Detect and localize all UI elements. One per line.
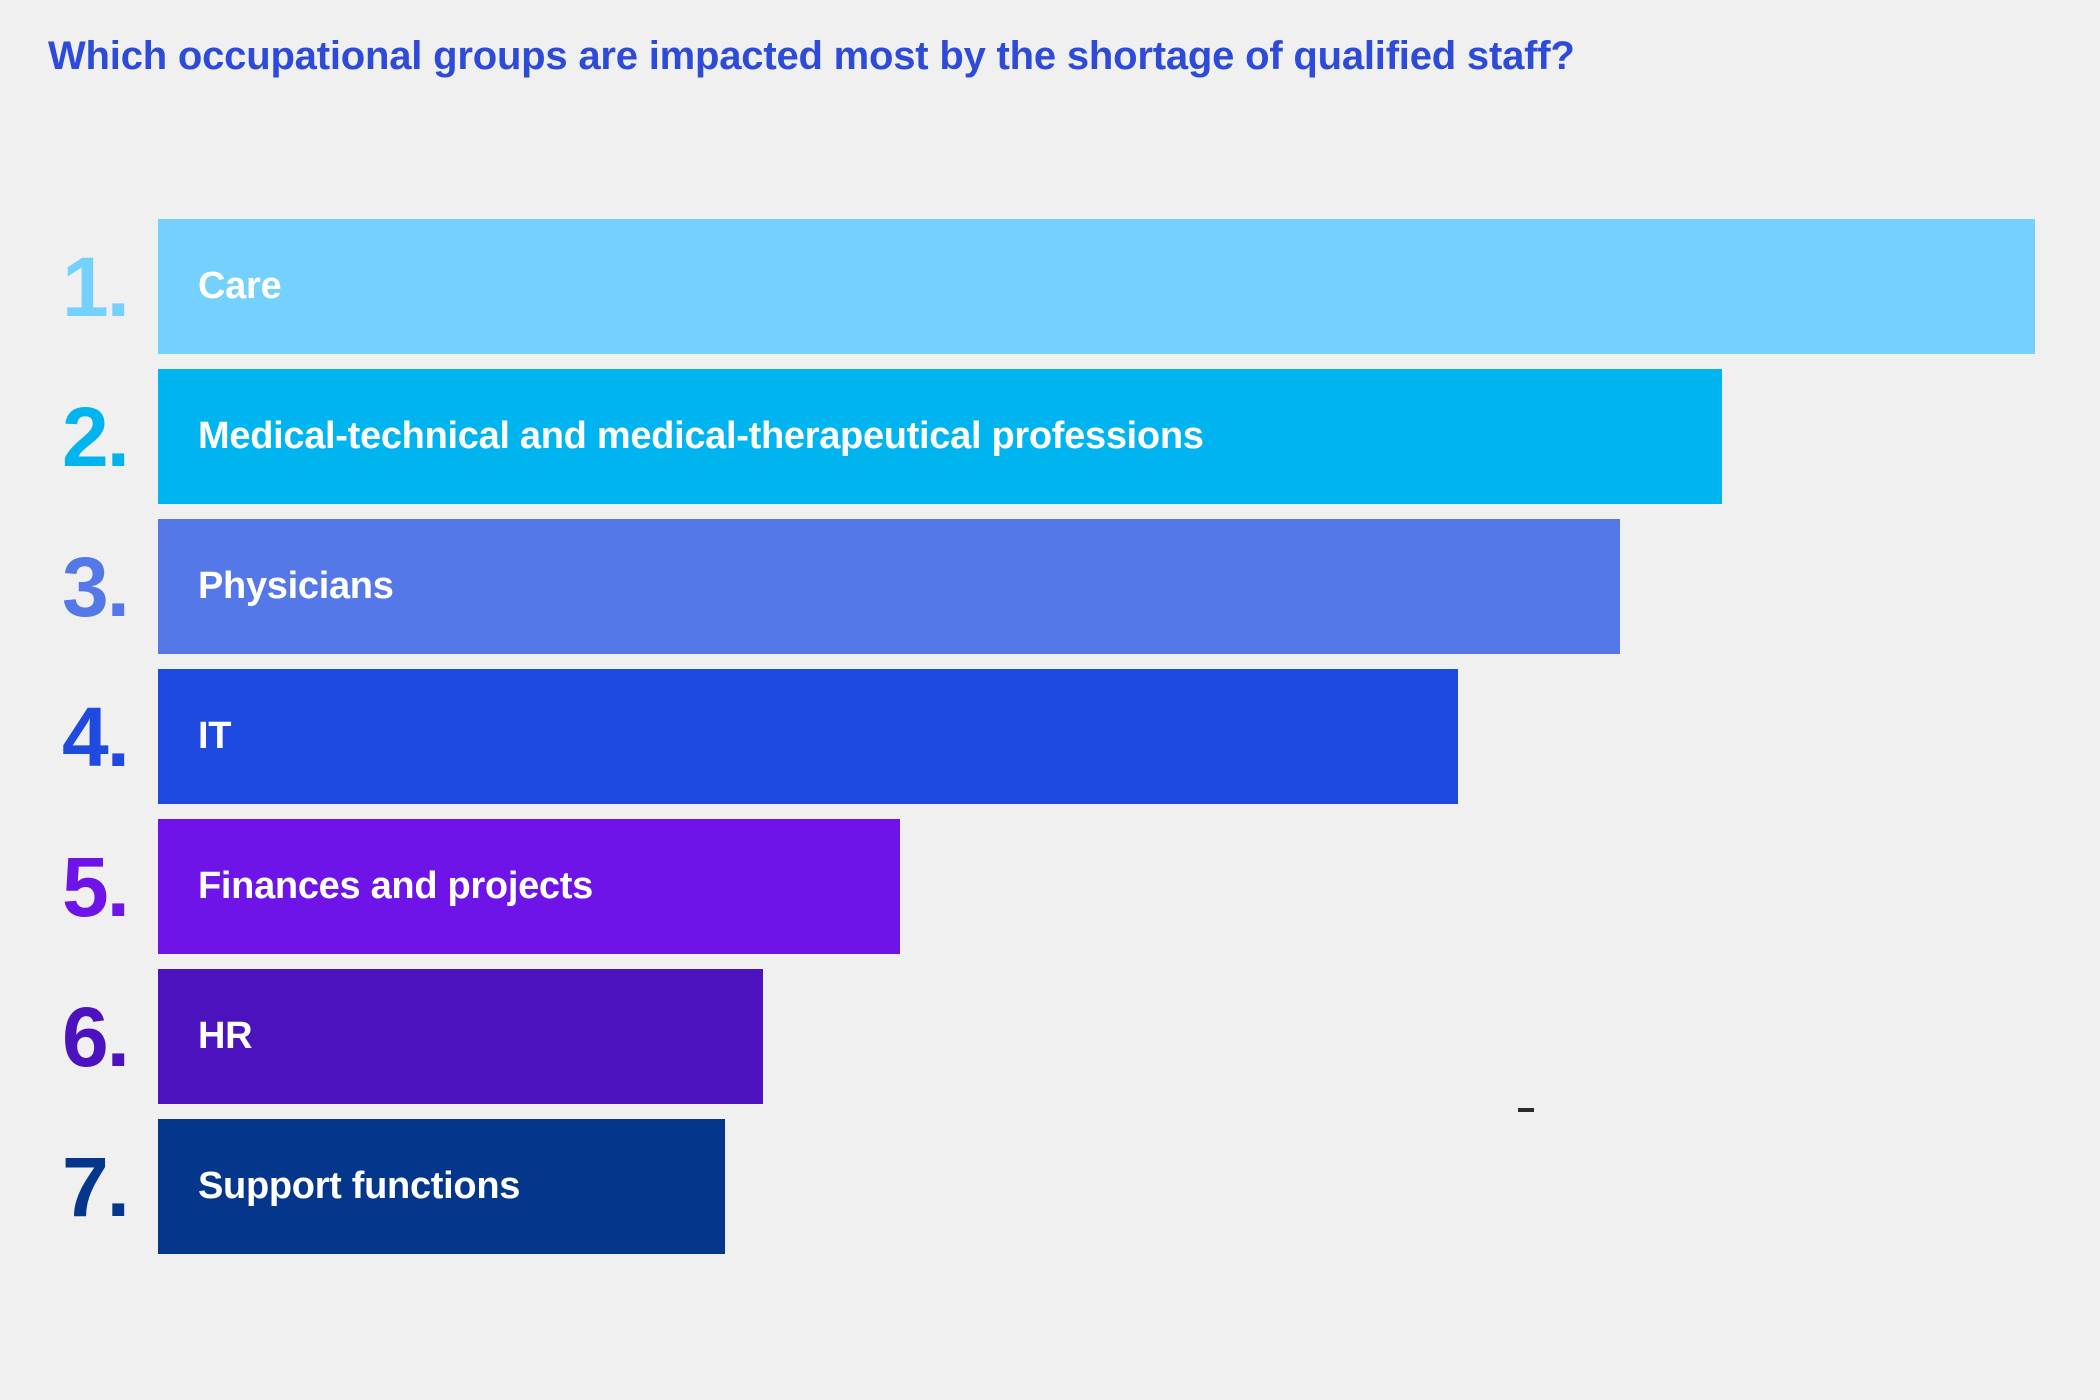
bar[interactable]: Physicians [158, 519, 1620, 654]
bar-label: Finances and projects [198, 865, 593, 908]
rank-number: 1. [0, 219, 140, 354]
bar-label: HR [198, 1015, 252, 1058]
bar[interactable]: HR [158, 969, 763, 1104]
bar-row: 7. Support functions [0, 1119, 2100, 1254]
rank-number: 7. [0, 1119, 140, 1254]
bar[interactable]: Care [158, 219, 2035, 354]
bar-row: 3. Physicians [0, 519, 2100, 654]
rank-number: 4. [0, 669, 140, 804]
bar-label: Care [198, 265, 281, 308]
page-title: Which occupational groups are impacted m… [48, 34, 1575, 79]
bar-label: Support functions [198, 1165, 520, 1208]
bar[interactable]: Support functions [158, 1119, 725, 1254]
bar-label: Physicians [198, 565, 394, 608]
bar-row: 4. IT [0, 669, 2100, 804]
bar-label: Medical-technical and medical-therapeuti… [198, 415, 1204, 458]
rank-number: 6. [0, 969, 140, 1104]
bar-row: 5. Finances and projects [0, 819, 2100, 954]
bar-row: 1. Care [0, 219, 2100, 354]
bar-chart: 1. Care 2. Medical-technical and medical… [0, 219, 2100, 1269]
stray-dash-mark [1518, 1108, 1534, 1112]
bar-row: 6. HR [0, 969, 2100, 1104]
bar[interactable]: Medical-technical and medical-therapeuti… [158, 369, 1722, 504]
bar-row: 2. Medical-technical and medical-therape… [0, 369, 2100, 504]
bar[interactable]: IT [158, 669, 1458, 804]
bar[interactable]: Finances and projects [158, 819, 900, 954]
rank-number: 5. [0, 819, 140, 954]
rank-number: 3. [0, 519, 140, 654]
bar-label: IT [198, 715, 231, 758]
rank-number: 2. [0, 369, 140, 504]
